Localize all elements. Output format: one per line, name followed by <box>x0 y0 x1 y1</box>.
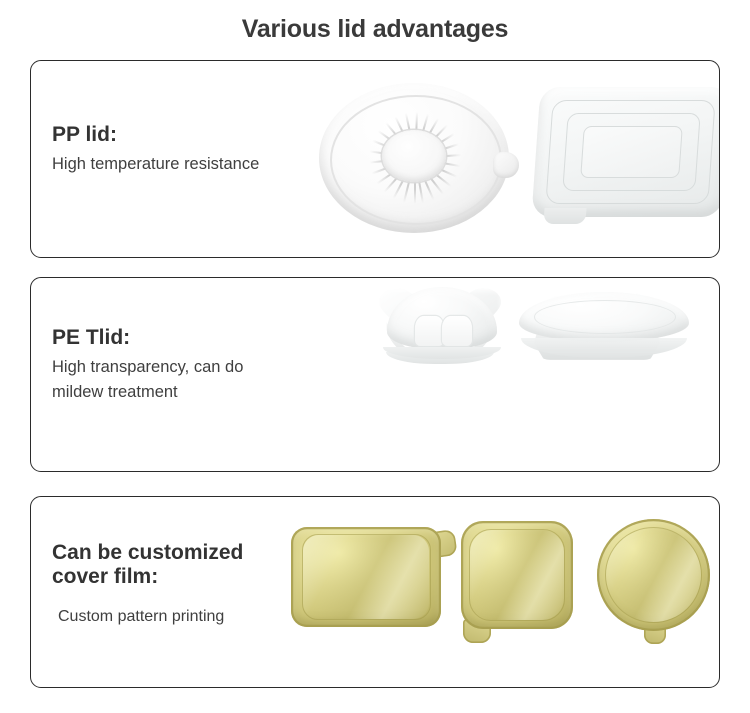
pe-lid-subtitle: High transparency, can do mildew treatme… <box>52 355 243 405</box>
pe-dome-lid-base <box>383 347 501 359</box>
pe-oval-lid-ridge <box>534 300 675 334</box>
pp-lid-heading: PP lid: <box>52 123 259 147</box>
pe-dome-lid-lobe-right <box>442 316 472 346</box>
gold-foil-round-cover-image <box>597 519 710 631</box>
cover-film-text-block: Can be customized cover film: Custom pat… <box>52 541 243 629</box>
pe-dome-lid-lobe-left <box>415 316 445 346</box>
pe-lid-text-block: PE Tlid: High transparency, can do milde… <box>52 326 243 405</box>
gold-foil-square-cover-image <box>461 521 573 629</box>
page-title: Various lid advantages <box>0 0 750 48</box>
pp-round-lid-image <box>319 83 509 233</box>
gold-foil-round-cover-face <box>597 519 710 631</box>
cover-film-heading: Can be customized cover film: <box>52 541 243 589</box>
pp-round-lid-tab <box>493 152 519 178</box>
pp-lid-subtitle: High temperature resistance <box>52 152 259 177</box>
gold-foil-square-cover-face <box>461 521 573 629</box>
pp-rect-lid-foot <box>543 208 586 224</box>
pe-oval-lid-base <box>521 338 688 358</box>
card-cover-film: Can be customized cover film: Custom pat… <box>30 496 720 688</box>
card-pe-lid: PE Tlid: High transparency, can do milde… <box>30 277 720 472</box>
gold-foil-rectangular-cover-image <box>291 527 441 627</box>
pe-oval-lid-image <box>519 292 689 358</box>
pe-lid-heading: PE Tlid: <box>52 326 243 350</box>
cover-film-subtitle: Custom pattern printing <box>52 594 243 629</box>
card-pp-lid: PP lid: High temperature resistance <box>30 60 720 258</box>
pp-round-lid-hub <box>382 130 447 183</box>
pe-dome-lid-image <box>383 287 501 359</box>
pp-lid-text-block: PP lid: High temperature resistance <box>52 123 259 177</box>
pp-rect-lid-ring-inner <box>580 126 682 178</box>
gold-foil-rectangular-cover-face <box>291 527 441 627</box>
pp-rectangular-lid-image <box>536 87 720 217</box>
